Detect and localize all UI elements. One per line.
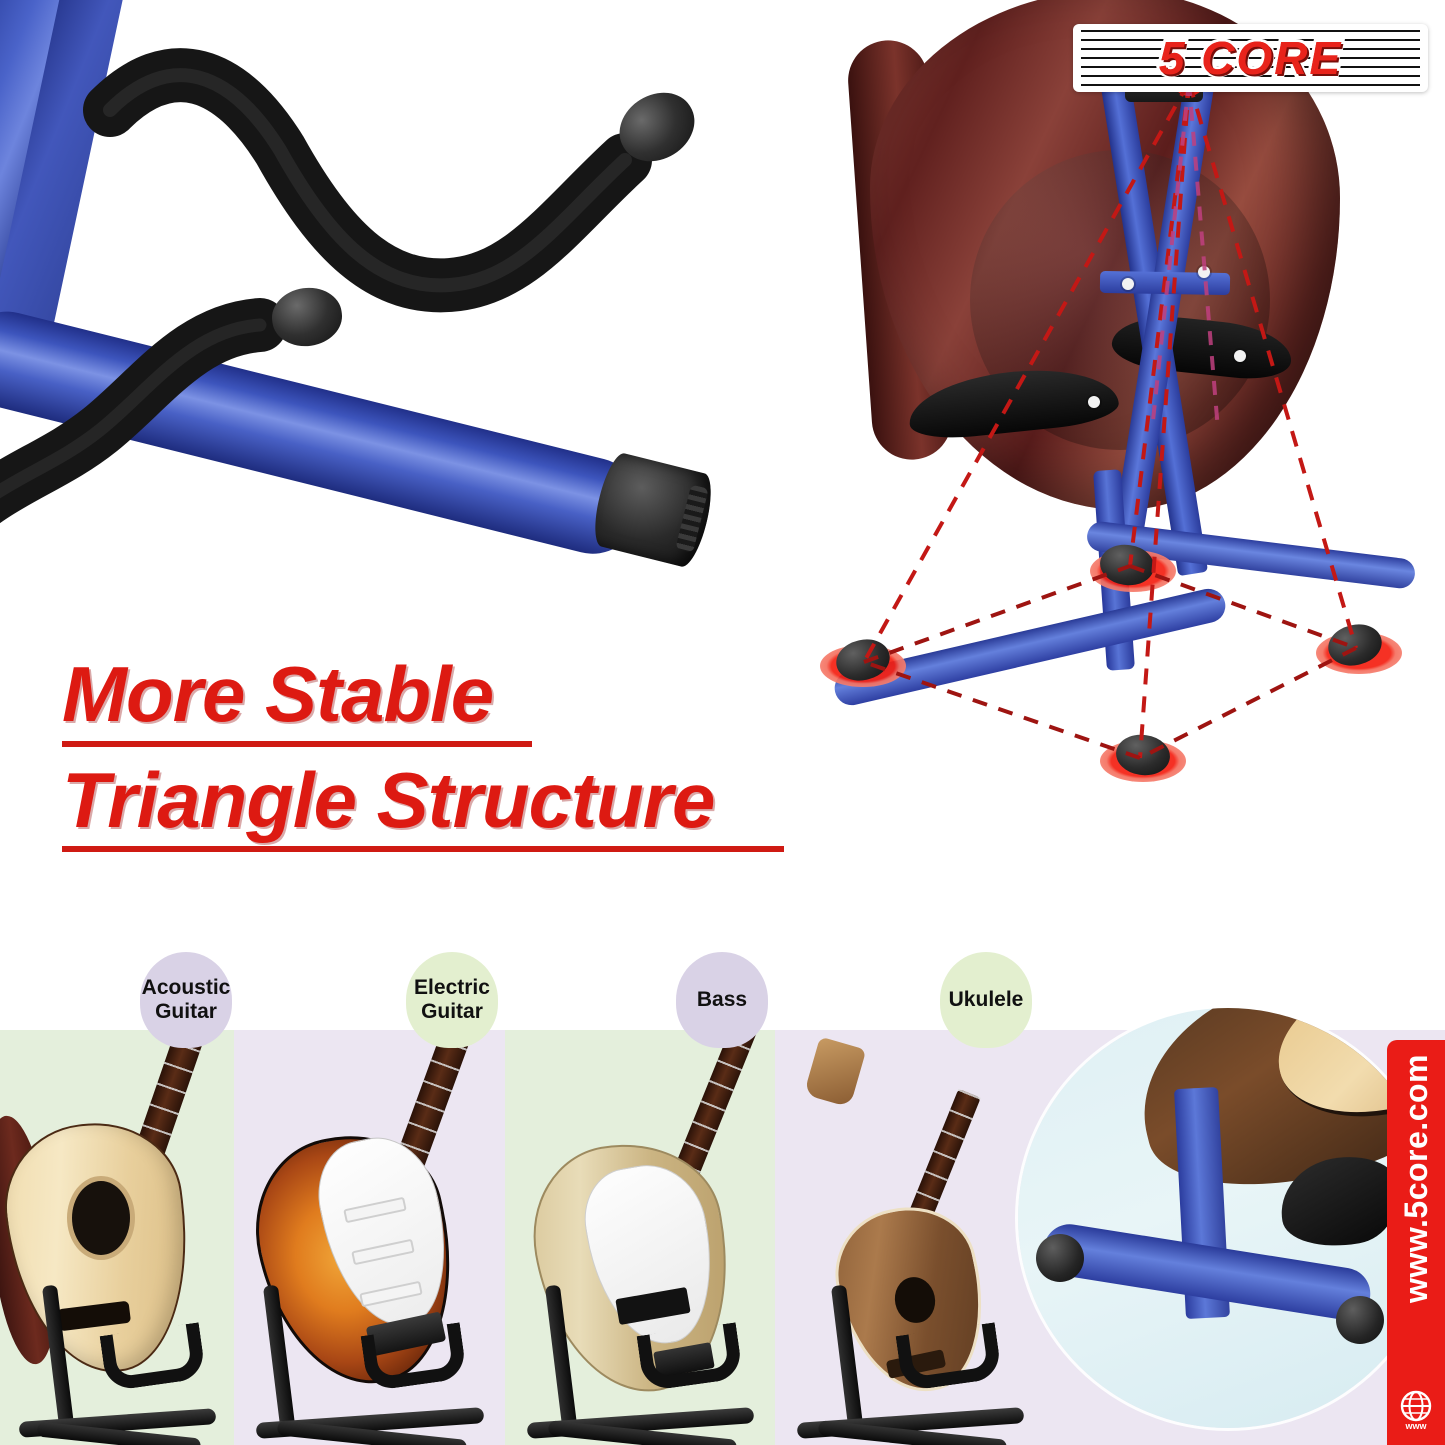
label-line-1: Bass xyxy=(697,988,747,1012)
label-acoustic-guitar: AcousticGuitar xyxy=(140,952,232,1048)
padded-arm-lower xyxy=(0,280,420,580)
frame-crossbar xyxy=(1100,271,1230,295)
label-line-2: Guitar xyxy=(155,1000,217,1023)
headline-line-2: Triangle Structure xyxy=(62,761,842,841)
headline-block: More Stable Triangle Structure xyxy=(62,655,842,866)
website-url: www.5core.com xyxy=(1398,1054,1435,1303)
stand-upright xyxy=(42,1285,75,1436)
base-detail-inset xyxy=(1018,1008,1438,1428)
acoustic-sound-hole xyxy=(72,1181,130,1255)
globe-www-icon: www xyxy=(1394,1387,1438,1431)
label-electric-guitar: ElectricGuitar xyxy=(406,952,498,1048)
guitar-stand-electric xyxy=(234,1275,505,1445)
rivet-pin xyxy=(1122,278,1134,290)
stand-yoke xyxy=(361,1322,468,1391)
panel-acoustic-guitar xyxy=(0,1030,234,1445)
brand-logo-badge: 5 CORE 5 CORE xyxy=(1073,24,1428,92)
label-line-1: Electric xyxy=(414,976,490,999)
stand-yoke xyxy=(896,1322,1003,1391)
panel-bass-guitar xyxy=(505,1030,775,1445)
ukulele-headstock xyxy=(804,1037,867,1108)
headline-underline-1 xyxy=(62,741,532,747)
headline-line-1: More Stable xyxy=(62,655,842,735)
label-line-2: Guitar xyxy=(421,1000,483,1023)
svg-text:www: www xyxy=(1404,1421,1427,1431)
label-line-1: Ukulele xyxy=(949,988,1024,1012)
triangle-structure-diagram xyxy=(800,0,1445,830)
guitar-stand-bass xyxy=(505,1275,775,1445)
stand-yoke xyxy=(637,1322,744,1391)
inset-end-cap-left xyxy=(1036,1234,1084,1282)
headline-underline-2 xyxy=(62,846,784,852)
panel-ukulele xyxy=(775,1030,1045,1445)
stand-upright xyxy=(831,1285,864,1436)
label-ukulele: Ukulele xyxy=(940,952,1032,1048)
rivet-pin xyxy=(1234,350,1246,362)
guitar-stand-acoustic xyxy=(0,1275,234,1445)
stand-upright xyxy=(263,1285,296,1436)
website-banner[interactable]: www.5core.com www xyxy=(1387,1040,1445,1445)
rivet-pin xyxy=(1198,266,1210,278)
closeup-photo xyxy=(0,0,760,620)
stand-upright xyxy=(545,1285,578,1436)
logo-text: 5 CORE xyxy=(1073,24,1428,92)
guitar-stand-ukulele xyxy=(775,1275,1045,1445)
base-front-tube xyxy=(831,585,1228,708)
panel-electric-guitar xyxy=(234,1030,505,1445)
label-bass: Bass xyxy=(676,952,768,1048)
stand-yoke xyxy=(100,1322,207,1391)
inset-end-cap-right xyxy=(1336,1296,1384,1344)
rivet-pin xyxy=(1088,396,1100,408)
label-line-1: Acoustic xyxy=(142,976,231,999)
